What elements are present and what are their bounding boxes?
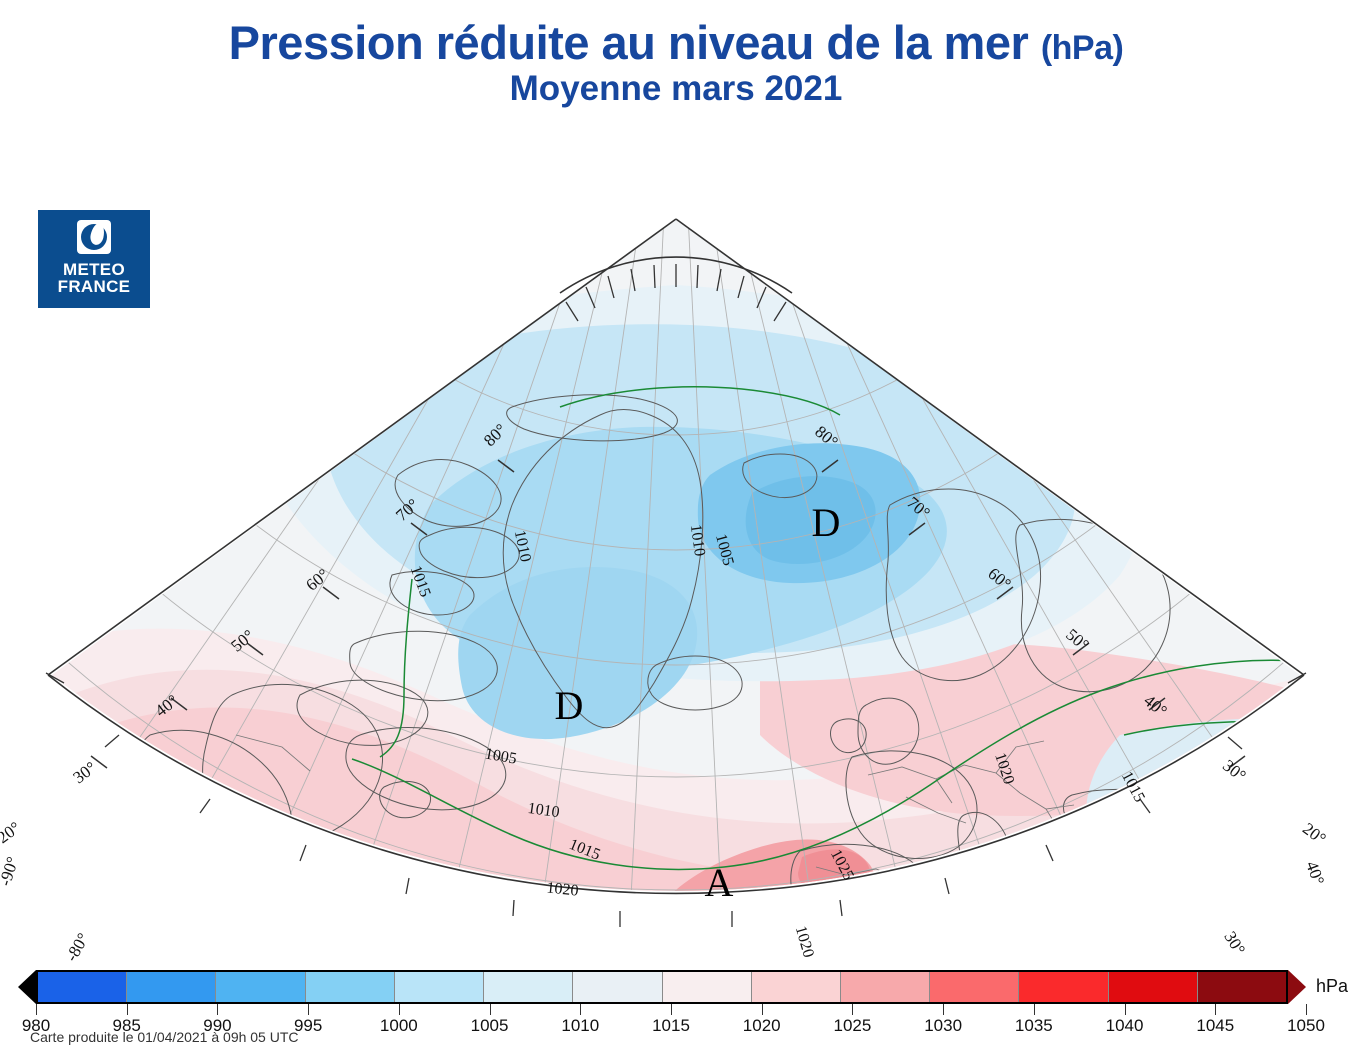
colorbar-tick: [943, 1004, 944, 1015]
colorbar-tick: [580, 1004, 581, 1015]
colorbar-tick-label: 1020: [743, 1016, 781, 1036]
colorbar-tick: [852, 1004, 853, 1015]
pressure-center-low: D: [812, 500, 841, 545]
colorbar-tick: [490, 1004, 491, 1015]
colorbar-tick-label: 1035: [1015, 1016, 1053, 1036]
colorbar-band: [752, 972, 841, 1002]
longitude-label: -80°: [62, 930, 93, 965]
latitude-label: 30°: [69, 758, 99, 788]
colorbar-band: [573, 972, 662, 1002]
colorbar-tick-label: 1015: [652, 1016, 690, 1036]
colorbar-row: [18, 970, 1306, 1004]
colorbar-tick: [217, 1004, 218, 1015]
colorbar-tick-label: 1040: [1106, 1016, 1144, 1036]
colorbar-tick-label: 1000: [380, 1016, 418, 1036]
colorbar-tick: [1306, 1004, 1307, 1015]
colorbar-tick: [1034, 1004, 1035, 1015]
colorbar-arrow-left-icon: [18, 970, 36, 1004]
latitude-label: 20°: [1299, 819, 1329, 849]
colorbar-tick: [1125, 1004, 1126, 1015]
longitude-label: -90°: [0, 854, 22, 888]
production-note: Carte produite le 01/04/2021 à 09h 05 UT…: [30, 1029, 299, 1045]
colorbar-tick: [127, 1004, 128, 1015]
pressure-center-high: A: [705, 860, 734, 905]
colorbar-arrow-right-icon: [1288, 970, 1306, 1004]
colorbar-unit-label: hPa: [1316, 976, 1348, 997]
colorbar-tick: [308, 1004, 309, 1015]
page-title-unit: (hPa): [1041, 29, 1124, 67]
colorbar-tick: [36, 1004, 37, 1015]
colorbar-bands: [36, 970, 1288, 1004]
colorbar-tick: [762, 1004, 763, 1015]
colorbar-tick-label: 1010: [561, 1016, 599, 1036]
pressure-map[interactable]: 80°70°60°50°40°30°20°80°70°60°50°40°30°2…: [0, 175, 1352, 965]
colorbar-band: [127, 972, 216, 1002]
colorbar-band: [216, 972, 305, 1002]
colorbar-band: [663, 972, 752, 1002]
colorbar-tick-label: 1050: [1287, 1016, 1325, 1036]
pressure-center-low: D: [555, 683, 584, 728]
colorbar-band: [395, 972, 484, 1002]
longitude-label: 40°: [1302, 859, 1328, 888]
colorbar-band: [484, 972, 573, 1002]
colorbar-band: [841, 972, 930, 1002]
longitude-label: 30°: [1220, 928, 1249, 958]
pressure-field: [0, 175, 1352, 965]
colorbar-tick-label: 1030: [924, 1016, 962, 1036]
colorbar-band: [38, 972, 127, 1002]
colorbar-tick: [399, 1004, 400, 1015]
latitude-label: 20°: [0, 818, 24, 847]
map-canvas[interactable]: 80°70°60°50°40°30°20°80°70°60°50°40°30°2…: [0, 175, 1352, 965]
weather-map-page: Pression réduite au niveau de la mer (hP…: [0, 0, 1352, 1054]
colorbar-tick: [671, 1004, 672, 1015]
page-title: Pression réduite au niveau de la mer (hP…: [0, 18, 1352, 68]
colorbar-band: [1019, 972, 1108, 1002]
colorbar-band: [1198, 972, 1286, 1002]
colorbar-band: [930, 972, 1019, 1002]
title-block: Pression réduite au niveau de la mer (hP…: [0, 18, 1352, 108]
isobar-label: 1020: [546, 879, 580, 899]
colorbar-band: [1109, 972, 1198, 1002]
colorbar-tick-label: 1045: [1196, 1016, 1234, 1036]
page-subtitle: Moyenne mars 2021: [0, 70, 1352, 109]
latitude-label: 30°: [1219, 756, 1249, 786]
colorbar-tick: [1215, 1004, 1216, 1015]
colorbar-tick-label: 1005: [471, 1016, 509, 1036]
colorbar-ticks: [36, 1004, 1306, 1016]
isobar-label: 1020: [792, 924, 817, 959]
colorbar-tick-label: 1025: [834, 1016, 872, 1036]
colorbar-band: [306, 972, 395, 1002]
page-title-text: Pression réduite au niveau de la mer: [229, 16, 1029, 69]
